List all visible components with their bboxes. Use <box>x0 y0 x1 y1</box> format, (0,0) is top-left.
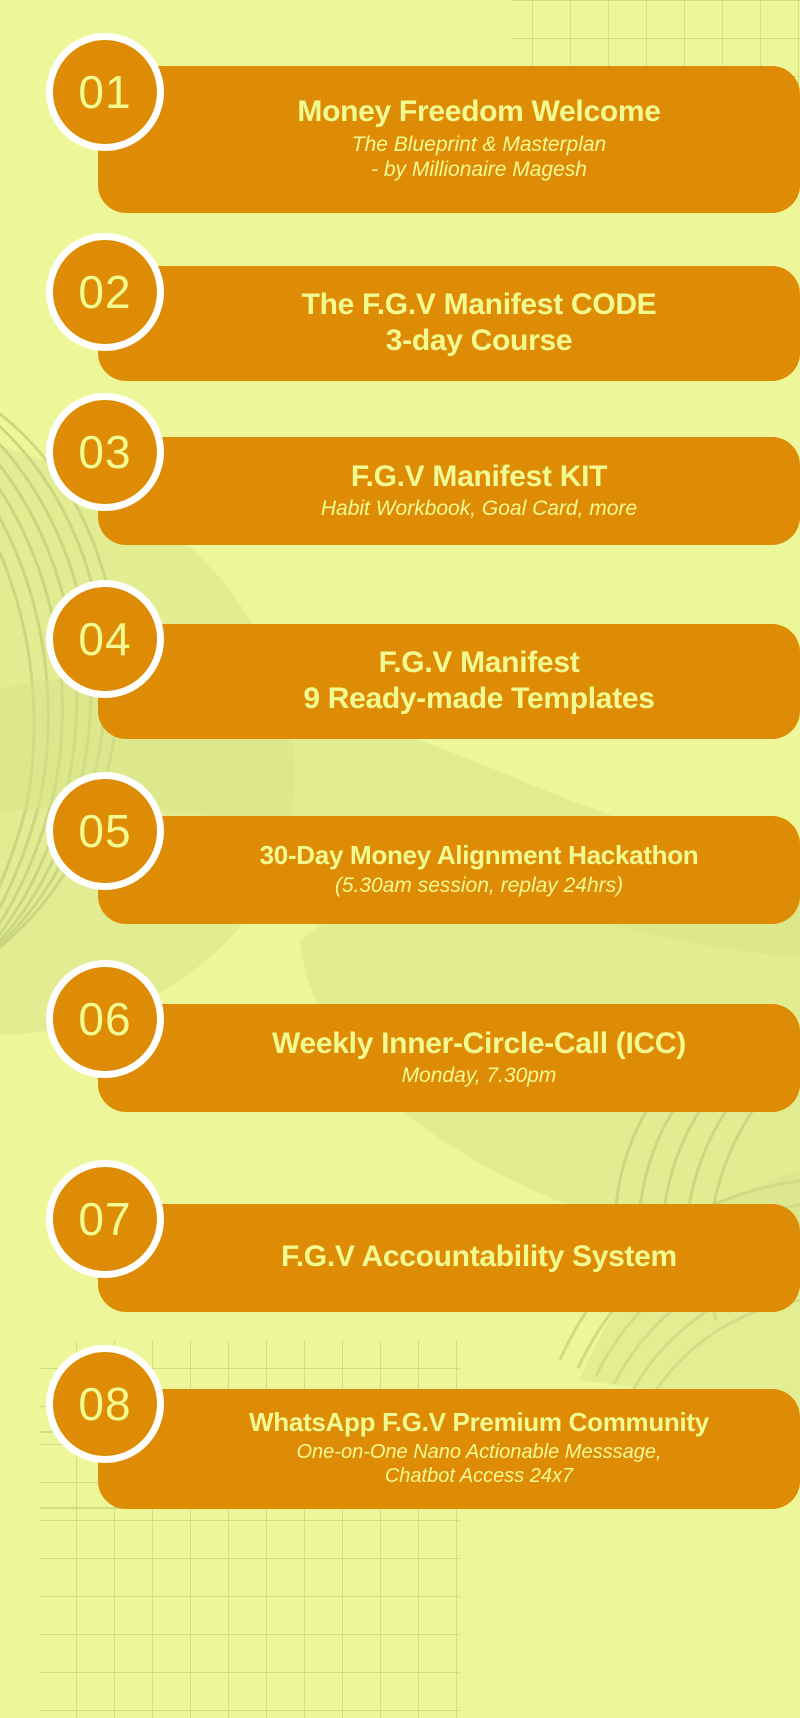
step-title: 30-Day Money Alignment Hackathon <box>260 840 699 871</box>
step-number: 08 <box>78 1381 131 1427</box>
step-badge[interactable]: 03 <box>46 393 164 511</box>
step-number: 07 <box>78 1196 131 1242</box>
step-number: 05 <box>78 808 131 854</box>
step-badge[interactable]: 04 <box>46 580 164 698</box>
step-badge[interactable]: 02 <box>46 233 164 351</box>
step-badge[interactable]: 07 <box>46 1160 164 1278</box>
step-title: F.G.V Accountability System <box>281 1239 677 1274</box>
step-number: 03 <box>78 429 131 475</box>
step-subtitle: One-on-One Nano Actionable Messsage, Cha… <box>296 1440 661 1489</box>
step-badge[interactable]: 05 <box>46 772 164 890</box>
step-bar[interactable]: WhatsApp F.G.V Premium Community One-on-… <box>98 1389 800 1509</box>
step-badge[interactable]: 06 <box>46 960 164 1078</box>
step-number: 02 <box>78 269 131 315</box>
step-subtitle: Monday, 7.30pm <box>402 1063 557 1089</box>
step-bar[interactable]: Money Freedom Welcome The Blueprint & Ma… <box>98 66 800 213</box>
step-title: Money Freedom Welcome <box>297 94 660 129</box>
step-title: WhatsApp F.G.V Premium Community <box>249 1407 709 1438</box>
step-title: F.G.V Manifest KIT <box>351 459 607 494</box>
step-badge[interactable]: 01 <box>46 33 164 151</box>
step-bar[interactable]: 30-Day Money Alignment Hackathon (5.30am… <box>98 816 800 924</box>
step-title: The F.G.V Manifest CODE 3-day Course <box>302 287 657 358</box>
step-subtitle: (5.30am session, replay 24hrs) <box>335 873 623 899</box>
step-bar[interactable]: F.G.V Manifest 9 Ready-made Templates <box>98 624 800 739</box>
step-number: 01 <box>78 69 131 115</box>
step-title: Weekly Inner-Circle-Call (ICC) <box>272 1026 686 1061</box>
step-number: 04 <box>78 616 131 662</box>
step-subtitle: Habit Workbook, Goal Card, more <box>321 496 637 522</box>
step-number: 06 <box>78 996 131 1042</box>
step-badge[interactable]: 08 <box>46 1345 164 1463</box>
step-title: F.G.V Manifest 9 Ready-made Templates <box>303 645 654 716</box>
step-subtitle: The Blueprint & Masterplan - by Milliona… <box>352 132 606 183</box>
step-bar[interactable]: F.G.V Manifest KIT Habit Workbook, Goal … <box>98 437 800 545</box>
steps-list: Money Freedom Welcome The Blueprint & Ma… <box>0 0 800 1718</box>
step-bar[interactable]: F.G.V Accountability System <box>98 1204 800 1312</box>
step-bar[interactable]: The F.G.V Manifest CODE 3-day Course <box>98 266 800 381</box>
step-bar[interactable]: Weekly Inner-Circle-Call (ICC) Monday, 7… <box>98 1004 800 1112</box>
